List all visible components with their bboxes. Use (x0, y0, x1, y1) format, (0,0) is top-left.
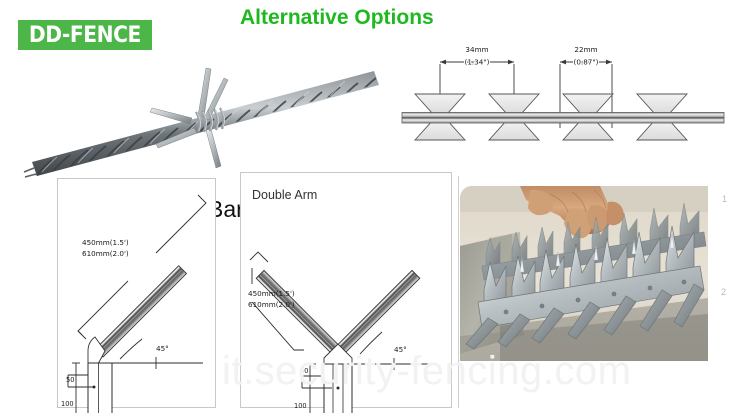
single-arm-offset-mid: 100 (61, 400, 74, 408)
barbed-wire-section: Barbed Wire (22, 58, 382, 170)
razor-dim-2-imperial: (0.87") (574, 58, 599, 67)
single-arm-bracket-diagram-icon: 45° 450mm(1.5') 610mm(2.0') 50 100 5 (58, 179, 216, 408)
edge-marker-two: 2 (721, 287, 726, 297)
spike-strip-photo-icon (460, 186, 708, 361)
double-arm-offset-top: 50 (300, 367, 308, 375)
single-arm-post-plate (88, 363, 112, 413)
double-arm-angle-label: 45° (394, 345, 407, 354)
brand-logo-text: DD-FENCE (29, 23, 141, 48)
double-arm-diagram-wrap: 45° 450mm(1.5') 610mm(2.0') 50 100 5 (242, 198, 450, 406)
product-spec-sheet: DD-FENCE Alternative Options (0, 0, 750, 400)
razor-wire-diagram-icon: 34mm (1.34") 22mm (0.87") (402, 40, 748, 158)
double-arm-length-b: 610mm(2.0') (248, 300, 295, 309)
single-arm-offset-top: 50 (66, 376, 74, 384)
razor-dim-1-imperial: (1.34") (465, 58, 490, 67)
edge-marker-one: 1 (722, 194, 727, 204)
razor-core-strands (402, 113, 724, 124)
double-arm-right-body (334, 270, 420, 356)
single-arm-length-b: 610mm(2.0') (82, 249, 129, 258)
single-arm-length-a: 450mm(1.5') (82, 238, 129, 247)
double-arm-offset-mid: 100 (294, 402, 307, 410)
razor-dim-2-metric: 22mm (574, 45, 597, 54)
double-arm-length-a: 450mm(1.5') (248, 289, 295, 298)
double-arm-left-body (256, 270, 342, 356)
double-arm-bracket-diagram-icon: 45° 450mm(1.5') 610mm(2.0') 50 100 5 (242, 198, 450, 406)
razor-dim-1-metric: 34mm (465, 45, 488, 54)
barb-cluster (150, 68, 228, 168)
single-arm-panel: 45° 450mm(1.5') 610mm(2.0') 50 100 5 (57, 178, 216, 408)
single-arm-body (95, 266, 186, 357)
page-title: Alternative Options (240, 6, 434, 30)
razor-wire-section: 34mm (1.34") 22mm (0.87") (402, 40, 748, 158)
brand-logo: DD-FENCE (18, 20, 152, 50)
single-arm-angle-label: 45° (156, 344, 169, 353)
barbed-wire-photo-icon (22, 58, 382, 170)
double-arm-post-plate (324, 364, 352, 413)
